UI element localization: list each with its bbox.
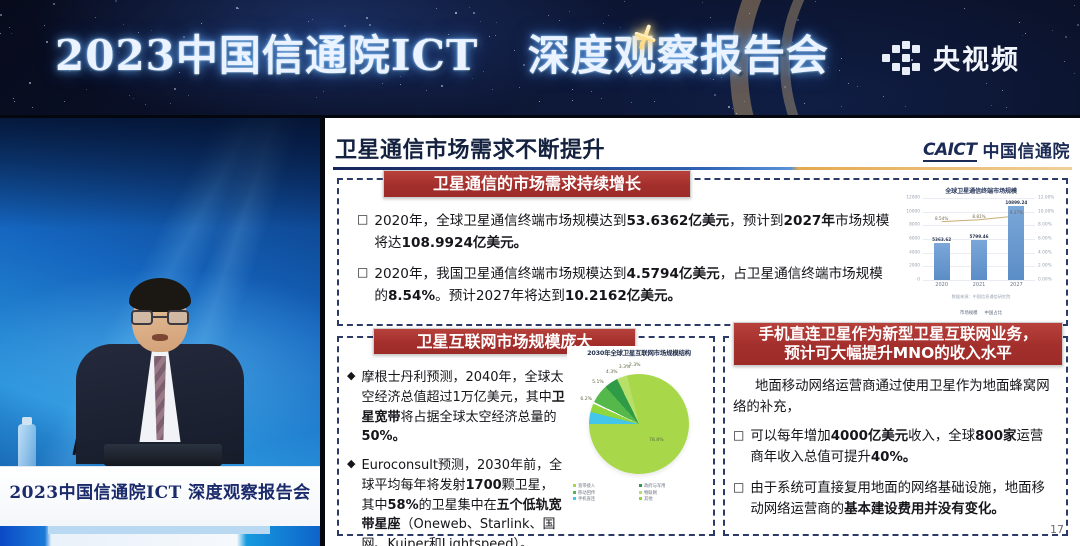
bar-chart-y2-tick: 10.00%	[1038, 209, 1054, 214]
top-box-banner-label: 卫星通信的市场需求持续增长	[433, 174, 641, 194]
bullet-item: □2020年，全球卫星通信终端市场规模达到53.6362亿美元，预计到2027年…	[357, 210, 895, 254]
podium-event-text: 2023中国信通院ICT 深度观察报告会	[0, 478, 320, 503]
podium-base	[0, 526, 320, 546]
speaker-mouth	[152, 334, 168, 341]
bar-chart-category-label: 2021	[973, 282, 986, 288]
bar-chart-category-label: 2020	[935, 282, 948, 288]
pie-chart-satellite-internet-structure: 2030年全球卫星互联网市场规模结构 宽带接入政府与军用移动回传物联网手机直连其…	[567, 346, 711, 528]
bar-chart-bar	[1008, 206, 1024, 280]
bar-chart-bar	[934, 243, 950, 280]
bullet-text: 2020年，我国卫星通信终端市场规模达到4.5794亿美元，占卫星通信终端市场规…	[374, 263, 895, 307]
event-title-main: 2023中国信通院ICT	[55, 31, 478, 80]
right-box-lead-text: 地面移动网络运营商通过使用卫星作为地面蜂窝网络的补充，	[733, 376, 1053, 419]
glasses-icon	[131, 310, 189, 325]
bar-chart-satellite-terminal-market: 全球卫星通信终端市场规模 120001000080006000400020000…	[897, 184, 1065, 322]
bullet-text: 可以每年增加4000亿美元收入，全球800家运营商年收入总值可提升40%。	[750, 426, 1053, 469]
pie-slice-label: 5.1%	[592, 380, 604, 385]
bar-chart-plot-area: 5363.628.54%5799.468.81%10899.249.37%	[923, 198, 1035, 280]
bar-chart-percent-label: 8.81%	[972, 214, 985, 219]
broadcast-header-banner: 2023中国信通院ICT 深度观察报告会 央视频	[0, 0, 1080, 115]
right-box-body: 地面移动网络运营商通过使用卫星作为地面蜂窝网络的补充，□可以每年增加4000亿美…	[733, 376, 1053, 530]
bar-chart-legend-item: 市场规模	[960, 310, 978, 316]
bar-chart-title: 全球卫星通信终端市场规模	[897, 186, 1065, 195]
pie-slice-label: 6.2%	[580, 397, 592, 402]
network-logo-text: 央视频	[933, 38, 1020, 77]
caict-logo-en: CAICT	[923, 142, 977, 162]
bar-chart-percent-label: 9.37%	[1010, 210, 1023, 215]
bar-chart-y-tick: 12000	[906, 196, 920, 201]
bullet-marker: ◆	[347, 456, 355, 546]
caict-logo-cn: 中国信通院	[983, 137, 1071, 162]
bar-chart-bar	[971, 240, 987, 280]
bar-chart-y-tick: 8000	[909, 223, 920, 228]
slide-header: 卫星通信市场需求不断提升 CAICT 中国信通院	[335, 128, 1070, 164]
bar-chart-y-axis-right: 12.00%10.00%8.00%6.00%4.00%2.00%0.00%	[1037, 198, 1061, 280]
pie-chart-legend-item: 政府与军用	[639, 484, 705, 491]
pie-chart-legend-item: 宽带接入	[573, 484, 639, 491]
pie-slice-label: 78.8%	[649, 438, 664, 443]
bar-chart-legend-item: 中国占比	[985, 310, 1003, 316]
bar-chart-percent-label: 8.54%	[935, 216, 948, 221]
left-box-bullets: ◆摩根士丹利预测，2040年，全球太空经济总值超过1万亿美元，其中卫星宽带将占据…	[347, 368, 565, 546]
water-bottle	[18, 424, 36, 468]
bullet-text: 摩根士丹利预测，2040年，全球太空经济总值超过1万亿美元，其中卫星宽带将占据全…	[361, 368, 565, 447]
bullet-marker: □	[357, 263, 368, 307]
broadcast-screen: 2023中国信通院ICT 深度观察报告会 央视频	[0, 0, 1080, 546]
cctv-dots-icon	[882, 41, 922, 75]
bullet-marker: □	[357, 210, 368, 254]
bullet-text: Euroconsult预测，2030年前，全球平均每年将发射1700颗卫星，其中…	[361, 456, 565, 546]
bar-chart-source-note: 数据来源：中国信息通信研究院	[897, 294, 1065, 300]
stage-top-shadow	[0, 118, 320, 228]
bullet-item: □2020年，我国卫星通信终端市场规模达到4.5794亿美元，占卫星通信终端市场…	[357, 263, 895, 307]
bullet-item: ◆摩根士丹利预测，2040年，全球太空经济总值超过1万亿美元，其中卫星宽带将占据…	[347, 368, 565, 447]
laptop	[104, 444, 222, 466]
pie-chart-legend-item: 手机直连	[573, 497, 639, 504]
bullet-text: 2020年，全球卫星通信终端市场规模达到53.6362亿美元，预计到2027年市…	[374, 210, 895, 254]
right-box-banner: 手机直连卫星作为新型卫星互联网业务， 预计可大幅提升MNO的收入水平	[733, 322, 1063, 366]
pie-slice-label: 4.3%	[606, 370, 618, 375]
pie-chart-title: 2030年全球卫星互联网市场规模结构	[567, 348, 711, 357]
bar-chart-category-label: 2027	[1010, 282, 1023, 288]
pie-chart-legend: 宽带接入政府与军用移动回传物联网手机直连其他	[573, 484, 705, 504]
bullet-item: ◆Euroconsult预测，2030年前，全球平均每年将发射1700颗卫星，其…	[347, 456, 565, 546]
bar-chart-y-tick: 2000	[909, 264, 920, 269]
bullet-marker: □	[733, 478, 744, 521]
bullet-text: 由于系统可直接复用地面的网络基础设施，地面移动网络运营商的基本建设费用并没有变化…	[750, 478, 1053, 521]
bar-chart-y-tick: 6000	[909, 237, 920, 242]
bullet-marker: □	[733, 426, 744, 469]
bar-chart-y2-tick: 2.00%	[1038, 264, 1052, 269]
speaker-video-panel[interactable]: 2023中国信通院ICT 深度观察报告会	[0, 118, 320, 546]
bar-chart-legend: 市场规模中国占比	[897, 310, 1065, 316]
top-box-banner: 卫星通信的市场需求持续增长	[383, 170, 691, 198]
bar-chart-y2-tick: 6.00%	[1038, 237, 1052, 242]
bullet-marker: ◆	[347, 368, 355, 447]
pie-chart-disc	[589, 374, 689, 474]
pie-chart-legend-item: 其他	[639, 497, 705, 504]
network-logo: 央视频	[882, 38, 1020, 77]
slide-page-number: 17	[1050, 523, 1064, 536]
bar-chart-y2-tick: 0.00%	[1038, 278, 1052, 283]
caict-logo: CAICT 中国信通院	[923, 137, 1070, 164]
event-title: 2023中国信通院ICT 深度观察报告会	[55, 22, 829, 83]
right-box-banner-line2: 预计可大幅提升MNO的收入水平	[784, 344, 1012, 363]
bullet-item: □由于系统可直接复用地面的网络基础设施，地面移动网络运营商的基本建设费用并没有变…	[733, 478, 1053, 521]
right-box-banner-line1: 手机直连卫星作为新型卫星互联网业务，	[758, 325, 1037, 344]
event-title-tail: 深度观察报告会	[528, 31, 829, 80]
presentation-slide: 卫星通信市场需求不断提升 CAICT 中国信通院 卫星通信的市场需求持续增长 □…	[325, 118, 1080, 546]
slide-title: 卫星通信市场需求不断提升	[335, 132, 605, 164]
pie-slice-label: 2.3%	[629, 363, 641, 368]
bar-chart-value-label: 5799.46	[969, 234, 988, 239]
bar-chart-y-tick: 4000	[909, 250, 920, 255]
bar-chart-value-label: 10899.24	[1005, 200, 1027, 205]
bar-chart-value-label: 5363.62	[932, 237, 951, 242]
bar-chart-y2-tick: 12.00%	[1038, 196, 1054, 201]
bullet-item: □可以每年增加4000亿美元收入，全球800家运营商年收入总值可提升40%。	[733, 426, 1053, 469]
top-box-bullets: □2020年，全球卫星通信终端市场规模达到53.6362亿美元，预计到2027年…	[357, 210, 895, 316]
bar-chart-x-axis: 202020212027	[923, 282, 1035, 292]
bar-chart-y-tick: 10000	[906, 209, 920, 214]
bar-chart-y-tick: 0	[917, 278, 920, 283]
bar-chart-y-axis-left: 120001000080006000400020000	[897, 198, 921, 280]
bar-chart-y2-tick: 4.00%	[1038, 250, 1052, 255]
bar-chart-y2-tick: 8.00%	[1038, 223, 1052, 228]
